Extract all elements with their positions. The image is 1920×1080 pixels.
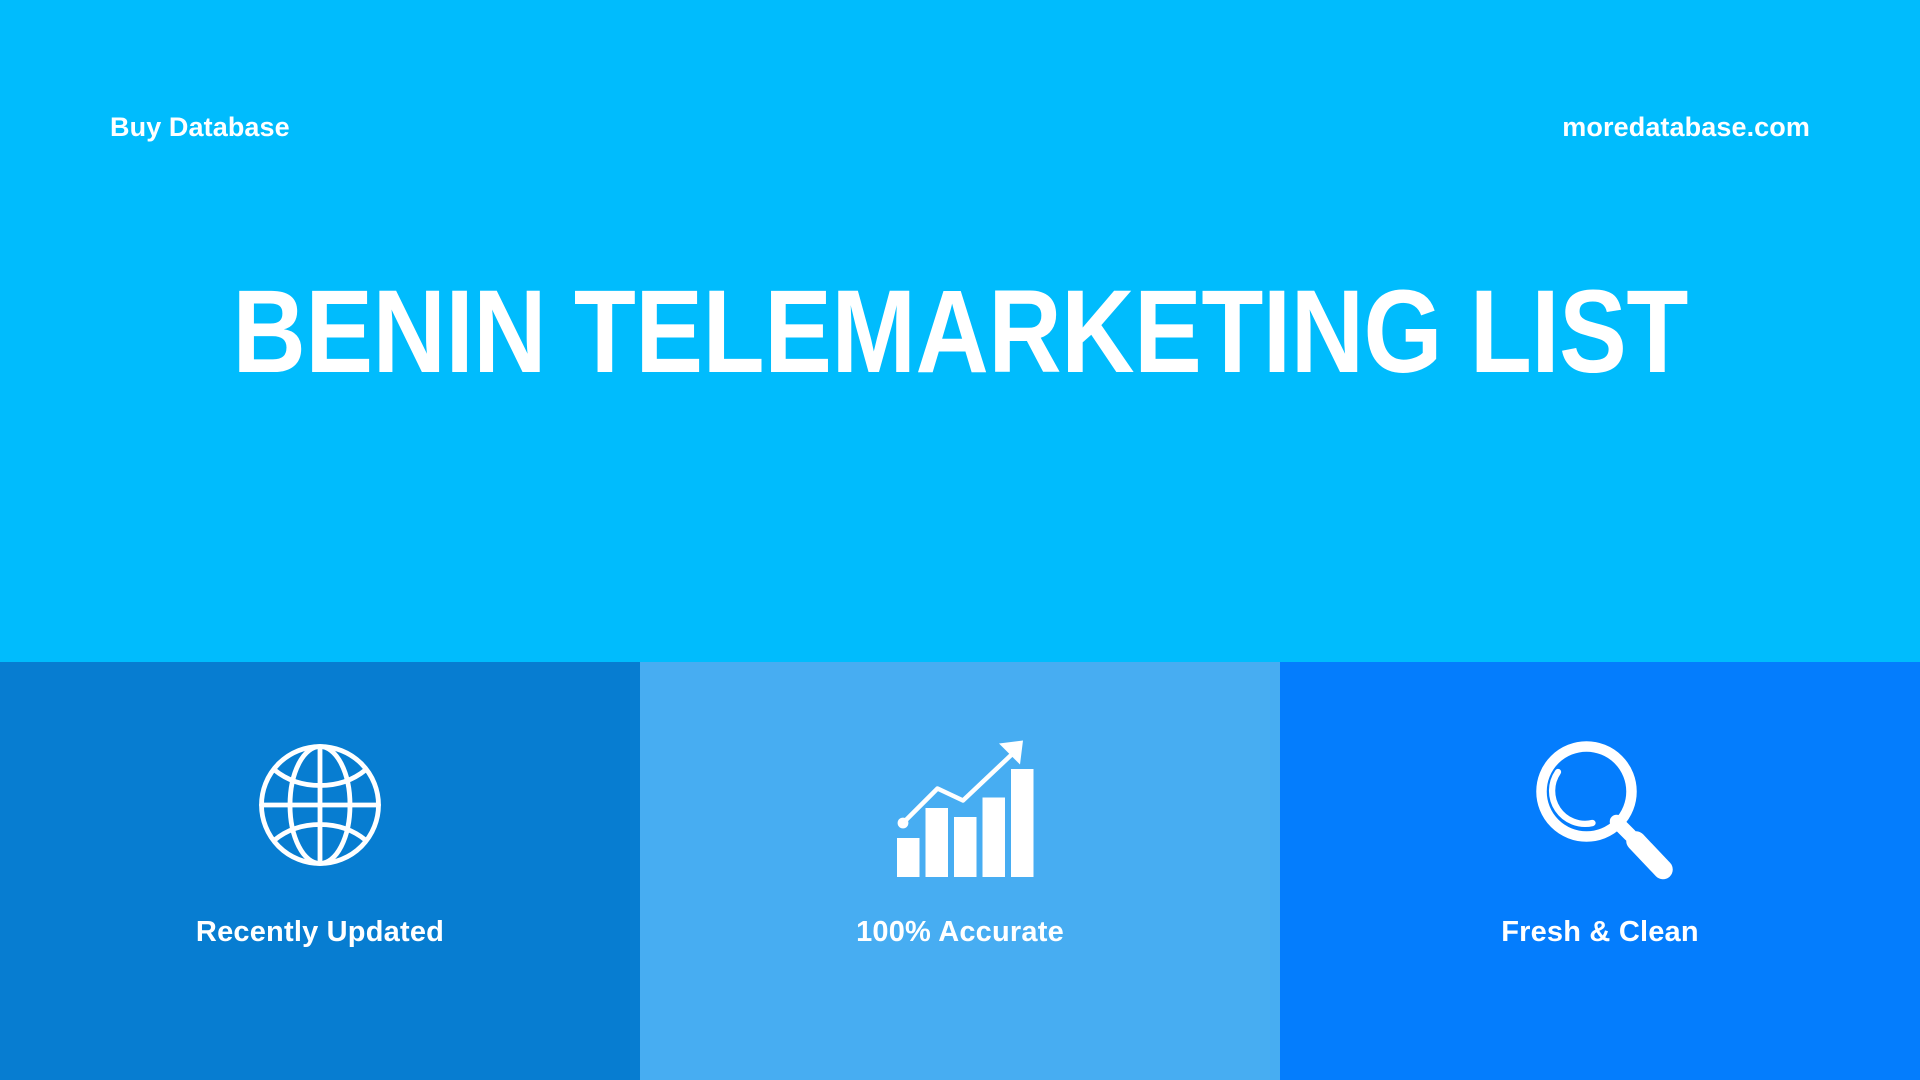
hero-section: Buy Database moredatabase.com BENIN TELE… — [0, 0, 1920, 662]
feature-panel-recently-updated: Recently Updated — [0, 662, 640, 1080]
feature-panel-accurate: 100% Accurate — [640, 662, 1280, 1080]
promo-banner: Buy Database moredatabase.com BENIN TELE… — [0, 0, 1920, 1080]
feature-label-fresh-clean: Fresh & Clean — [1501, 918, 1699, 947]
magnifier-icon — [1525, 730, 1675, 880]
feature-panels: Recently Updated 100% Accu — [0, 662, 1920, 1080]
globe-icon — [245, 730, 395, 880]
page-title: BENIN TELEMARKETING LIST — [232, 272, 1687, 392]
feature-label-recently-updated: Recently Updated — [196, 918, 444, 947]
hero-title-container: BENIN TELEMARKETING LIST — [0, 232, 1920, 432]
site-domain-label: moredatabase.com — [1562, 114, 1810, 141]
feature-panel-fresh-clean: Fresh & Clean — [1280, 662, 1920, 1080]
growth-chart-icon — [885, 730, 1035, 880]
hero-topbar: Buy Database moredatabase.com — [0, 104, 1920, 150]
brand-label: Buy Database — [110, 114, 290, 141]
feature-label-accurate: 100% Accurate — [856, 918, 1064, 947]
